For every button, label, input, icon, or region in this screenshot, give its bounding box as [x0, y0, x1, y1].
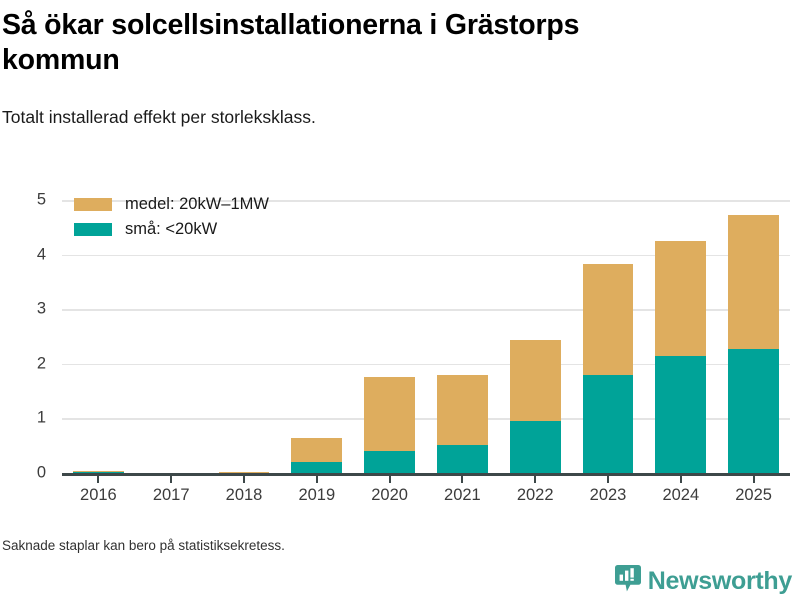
brand-name: Newsworthy: [648, 569, 792, 594]
y-axis-tick-label: 0: [0, 464, 46, 483]
bar-chart-speech-bubble-icon: [615, 565, 641, 597]
bar-segment[interactable]: [437, 445, 488, 473]
bar-2024[interactable]: [655, 241, 706, 473]
bar-segment[interactable]: [291, 438, 342, 462]
bar-2019[interactable]: [291, 438, 342, 473]
x-axis-tick-label: 2023: [590, 486, 627, 505]
chart-header: Så ökar solcellsinstallationerna i Gräst…: [0, 0, 800, 129]
x-axis-tick: [680, 475, 682, 483]
x-axis-tick: [534, 475, 536, 483]
x-axis-tick-label: 2025: [735, 486, 772, 505]
legend-item-0[interactable]: medel: 20kW–1MW: [74, 192, 269, 217]
y-axis-tick-label: 1: [0, 409, 46, 428]
x-axis-tick: [753, 475, 755, 483]
x-axis-tick-label: 2024: [662, 486, 699, 505]
x-axis-tick-label: 2020: [371, 486, 408, 505]
bar-segment[interactable]: [655, 241, 706, 356]
bar-segment[interactable]: [364, 377, 415, 450]
bar-segment[interactable]: [583, 375, 634, 473]
bar-segment[interactable]: [510, 340, 561, 421]
chart-legend: medel: 20kW–1MWsmå: <20kW: [74, 192, 269, 242]
page-title: Så ökar solcellsinstallationerna i Gräst…: [0, 0, 800, 78]
x-axis-tick: [316, 475, 318, 483]
x-axis-tick: [607, 475, 609, 483]
x-axis-tick-label: 2018: [226, 486, 263, 505]
bar-segment[interactable]: [728, 215, 779, 349]
chart-page: Så ökar solcellsinstallationerna i Gräst…: [0, 0, 800, 600]
x-axis-tick: [170, 475, 172, 483]
legend-swatch-icon: [74, 223, 112, 236]
bar-2021[interactable]: [437, 375, 488, 473]
x-axis-tick: [389, 475, 391, 483]
bar-2022[interactable]: [510, 340, 561, 473]
x-axis-tick-label: 2017: [153, 486, 190, 505]
x-axis-tick: [461, 475, 463, 483]
bar-segment[interactable]: [364, 451, 415, 473]
legend-item-1[interactable]: små: <20kW: [74, 217, 269, 242]
y-axis-tick-label: 5: [0, 191, 46, 210]
chart-footnote: Saknade staplar kan bero på statistiksek…: [2, 538, 285, 553]
bar-segment[interactable]: [291, 462, 342, 473]
x-axis-tick-label: 2022: [517, 486, 554, 505]
x-axis-tick: [243, 475, 245, 483]
legend-label: små: <20kW: [125, 220, 217, 239]
bar-2025[interactable]: [728, 215, 779, 473]
bar-segment[interactable]: [583, 264, 634, 375]
bar-2020[interactable]: [364, 377, 415, 473]
y-axis-tick-label: 3: [0, 300, 46, 319]
bar-2023[interactable]: [583, 264, 634, 473]
legend-swatch-icon: [74, 198, 112, 211]
legend-label: medel: 20kW–1MW: [125, 195, 269, 214]
x-axis-tick-label: 2019: [298, 486, 335, 505]
bar-segment[interactable]: [73, 471, 124, 472]
x-axis-tick-label: 2021: [444, 486, 481, 505]
chart-subtitle: Totalt installerad effekt per storlekskl…: [0, 78, 800, 129]
x-axis-tick: [97, 475, 99, 483]
bar-segment[interactable]: [510, 421, 561, 473]
y-axis-tick-label: 2: [0, 354, 46, 373]
bar-segment[interactable]: [655, 356, 706, 473]
bar-segment[interactable]: [728, 349, 779, 473]
newsworthy-logo[interactable]: Newsworthy: [615, 565, 792, 597]
y-axis-tick-label: 4: [0, 245, 46, 264]
bar-segment[interactable]: [437, 375, 488, 445]
x-axis-tick-label: 2016: [80, 486, 117, 505]
